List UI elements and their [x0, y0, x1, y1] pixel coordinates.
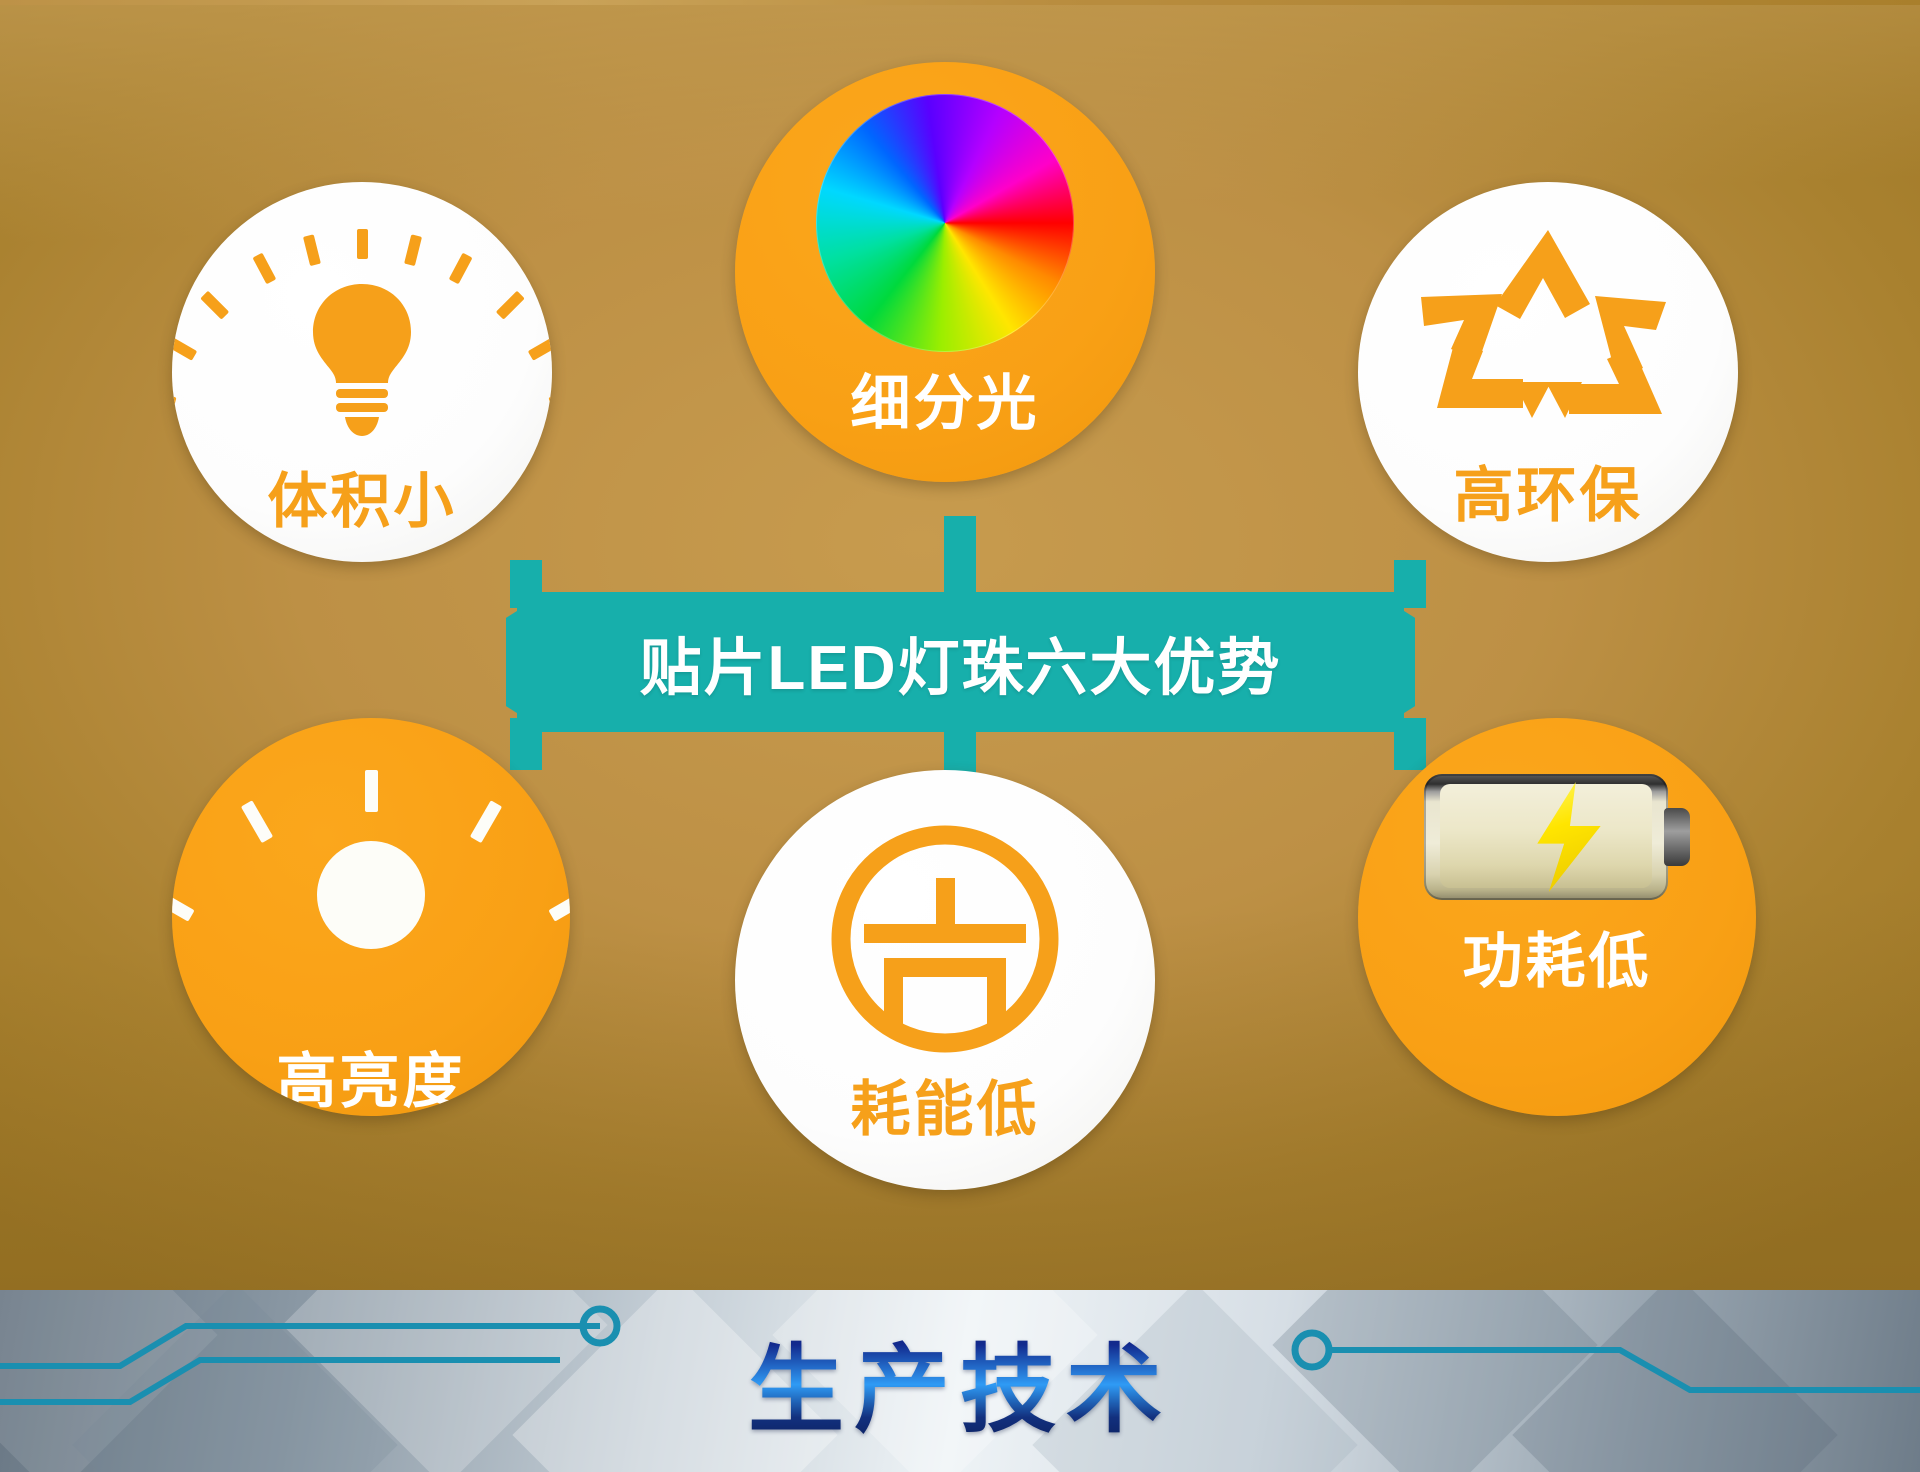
advantage-label: 高亮度 [277, 1052, 466, 1112]
bulb-ray [527, 336, 552, 361]
sun-icon [246, 770, 496, 1020]
advantage-node-spectrum[interactable]: 细分光 [735, 62, 1155, 482]
advantage-node-small-size[interactable]: 体积小 [172, 182, 552, 562]
bulb-ray [200, 291, 229, 320]
sun-ray [172, 889, 194, 921]
advantage-label: 功耗低 [1463, 932, 1652, 992]
sun-ray [469, 800, 501, 843]
energy-save-icon [822, 816, 1068, 1062]
connector-stem-top-center [944, 516, 976, 600]
advantage-label: 高环保 [1454, 466, 1643, 526]
lightbulb-icon [237, 226, 487, 456]
top-edge-strip [0, 0, 1920, 5]
advantage-node-energy-saving[interactable]: 耗能低 [735, 770, 1155, 1190]
battery-bolt-icon [1424, 774, 1690, 900]
advantage-label: 细分光 [851, 374, 1040, 434]
footer-title: 生产技术 [0, 1290, 1920, 1472]
advantage-label: 耗能低 [851, 1080, 1040, 1140]
center-banner-title: 贴片LED灯珠六大优势 [517, 592, 1404, 732]
recycle-icon [1419, 222, 1677, 452]
sun-ray [548, 889, 570, 921]
bulb-ray [172, 390, 176, 408]
color-wheel-icon [816, 94, 1074, 352]
bulb-ray [357, 229, 368, 259]
advantage-node-eco-friendly[interactable]: 高环保 [1358, 182, 1738, 562]
infographic-canvas: 贴片LED灯珠六大优势 体积小 细分光 [0, 0, 1920, 1472]
advantage-node-low-power[interactable]: 功耗低 [1358, 718, 1756, 1116]
bulb-ray [495, 291, 524, 320]
sun-ray [240, 800, 272, 843]
advantage-node-brightness[interactable]: 高亮度 [172, 718, 570, 1116]
sun-ray [365, 770, 378, 812]
bulb-ray [172, 336, 197, 361]
advantage-label: 体积小 [268, 472, 457, 532]
